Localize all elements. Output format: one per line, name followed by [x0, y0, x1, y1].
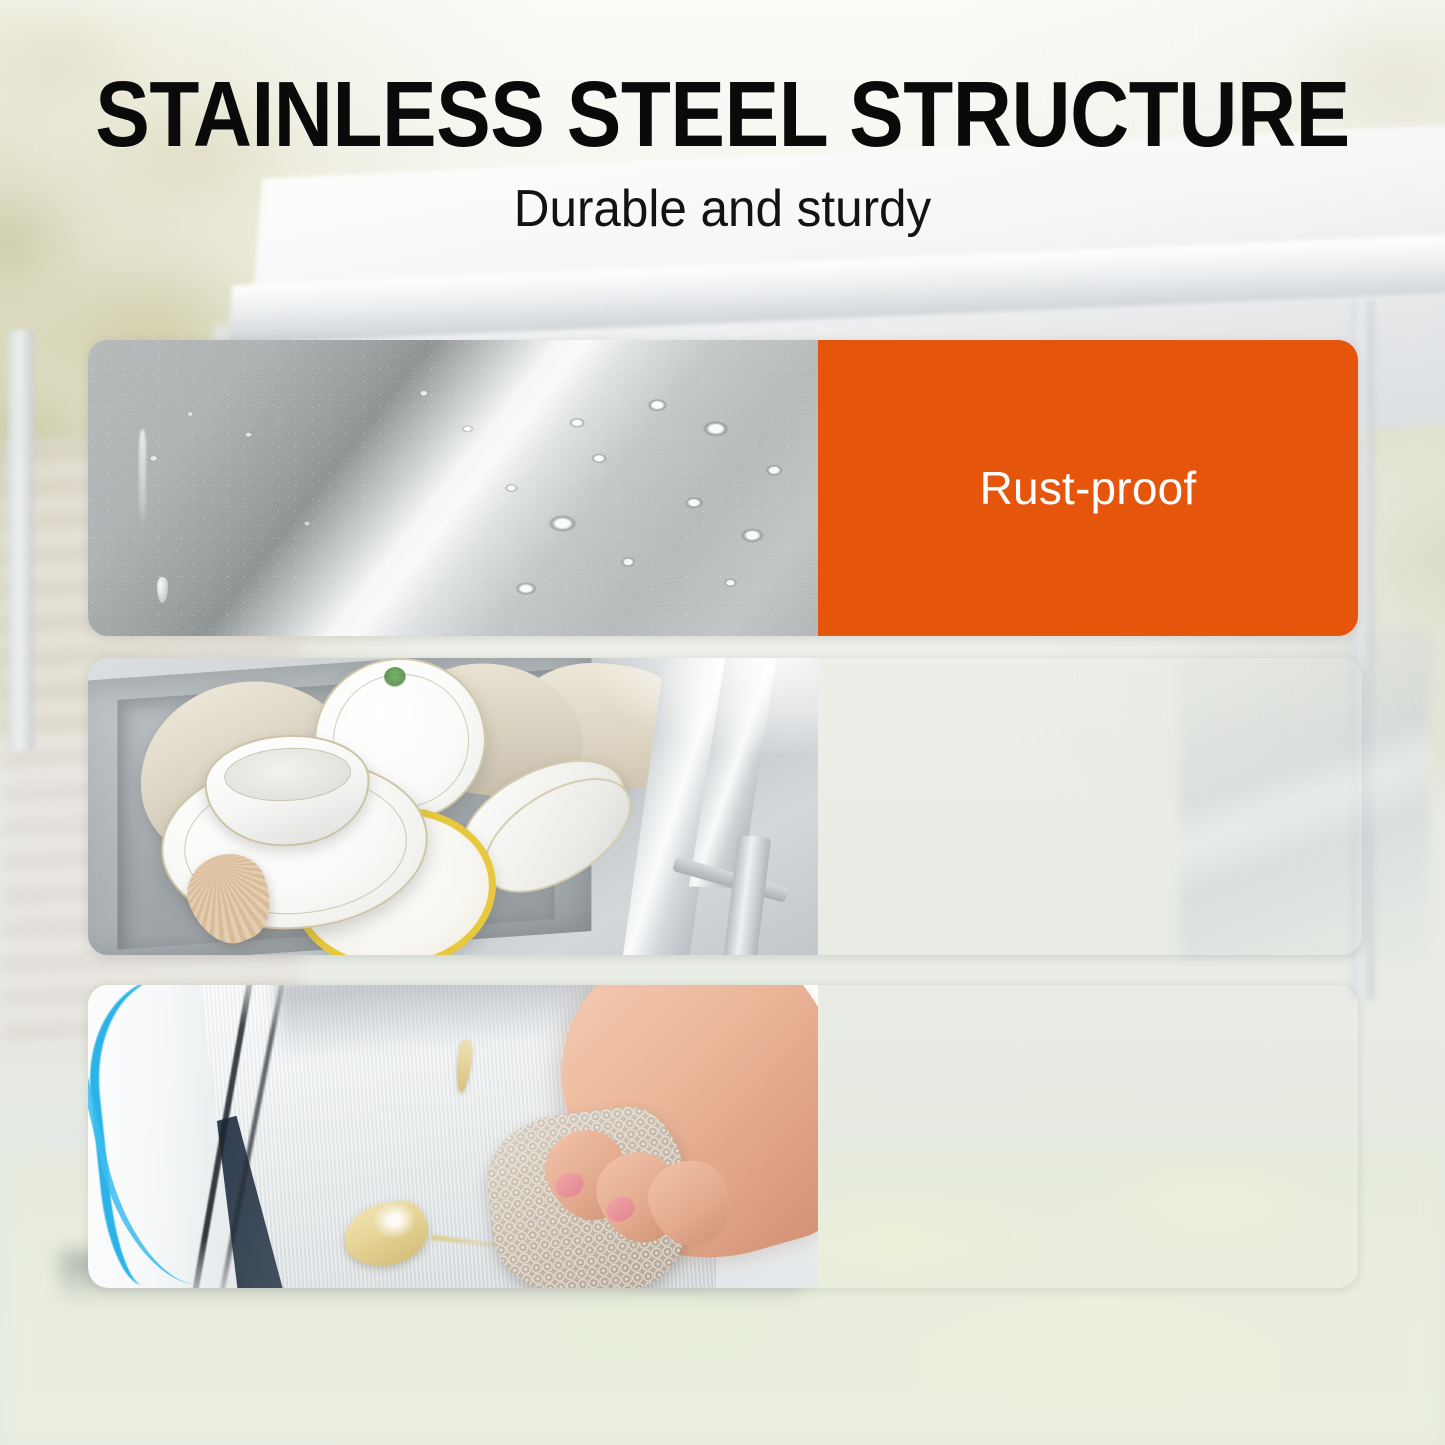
sink-window-glow	[599, 658, 818, 753]
droplets-drip-streak	[139, 429, 146, 524]
feature-label-panel-rust-proof: Rust-proof	[818, 340, 1358, 636]
feature-label-rust-proof: Rust-proof	[980, 463, 1197, 514]
page-title: STAINLESS STEEL STRUCTURE	[87, 68, 1359, 161]
feature-photo-wiping-surface	[88, 985, 818, 1288]
page-subtitle: Durable and sturdy	[36, 183, 1409, 235]
feature-row-easy-to-clean: Easy to clean	[88, 985, 1358, 1288]
feature-photo-water-droplets	[88, 340, 818, 636]
product-feature-poster: STAINLESS STEEL STRUCTURE Durable and st…	[0, 0, 1445, 1445]
droplets-condensation-mist	[88, 340, 818, 636]
feature-photo-sink-with-dishes	[88, 658, 818, 955]
poster-header: STAINLESS STEEL STRUCTURE Durable and st…	[0, 68, 1445, 235]
feature-row-rust-proof: Rust-proof	[88, 340, 1358, 636]
feature-row-load-bearing: Strong load-bearing	[88, 658, 1362, 955]
